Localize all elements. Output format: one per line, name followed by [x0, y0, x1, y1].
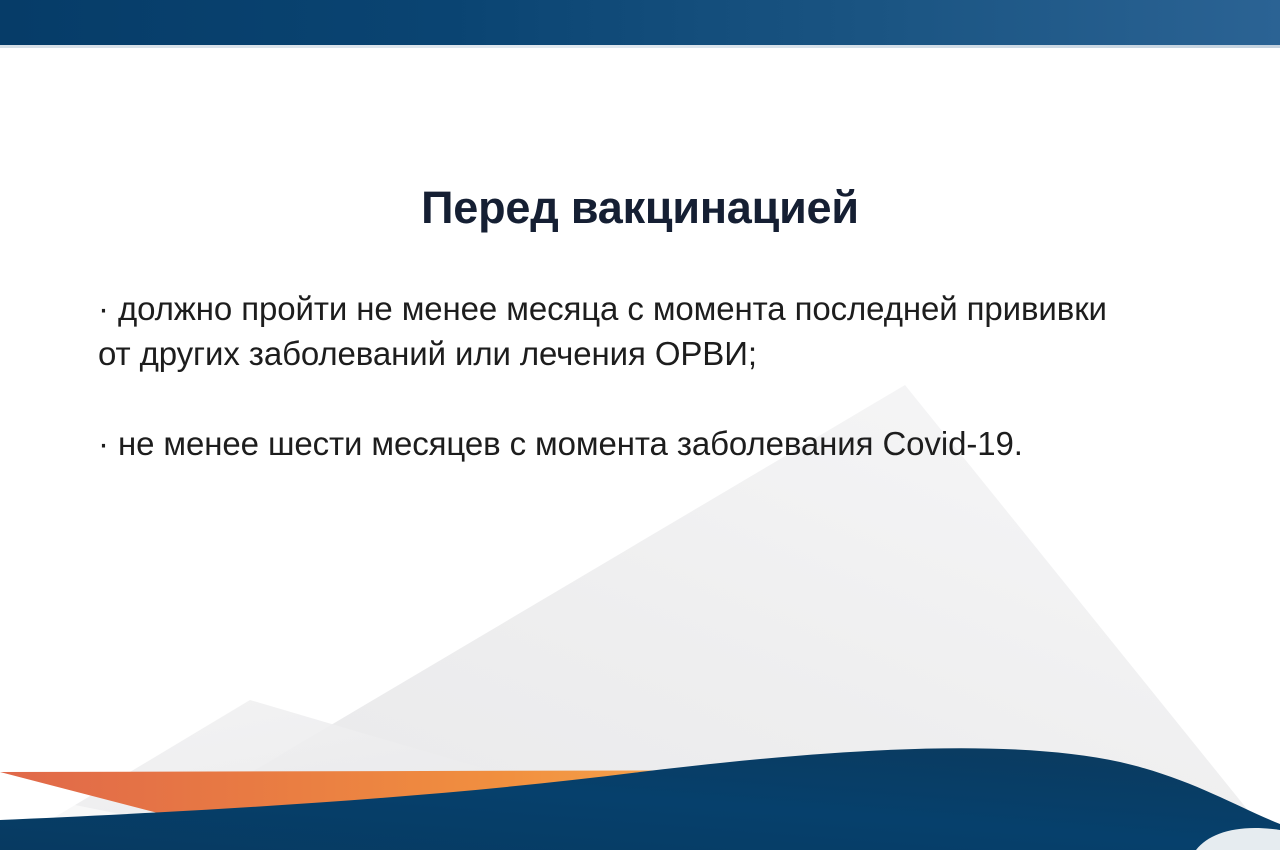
list-item: · должно пройти не менее месяца с момент… [98, 286, 1108, 376]
page-title: Перед вакцинацией [0, 182, 1280, 234]
bullet-list: · должно пройти не менее месяца с момент… [98, 286, 1108, 466]
list-item: · не менее шести месяцев с момента забол… [98, 421, 1108, 466]
slide-canvas: Перед вакцинацией · должно пройти не мен… [0, 0, 1280, 850]
slide-content: Перед вакцинацией · должно пройти не мен… [0, 0, 1280, 850]
